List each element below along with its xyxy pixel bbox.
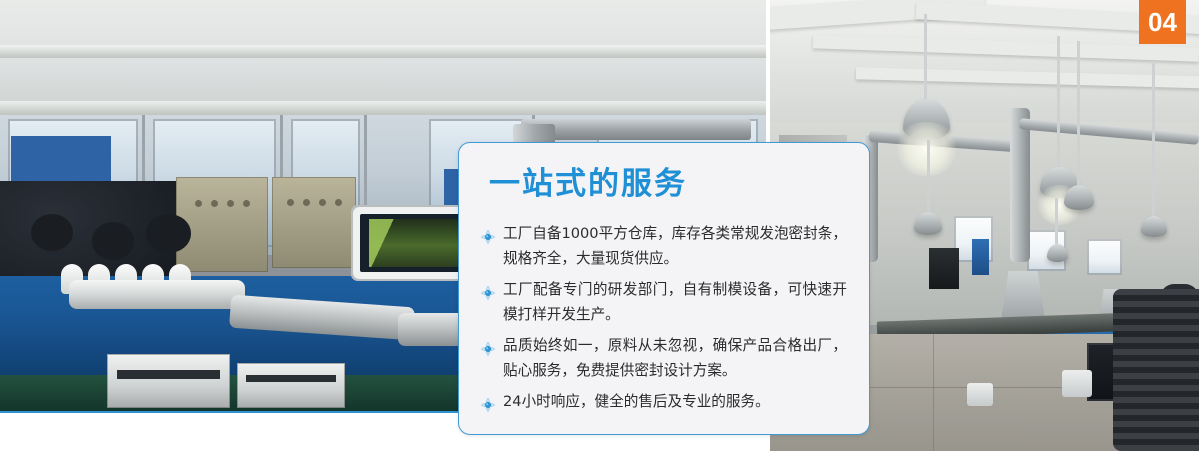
controller-panel bbox=[237, 363, 344, 408]
worker-head bbox=[31, 214, 73, 251]
bullet-target-icon bbox=[481, 340, 495, 354]
hmi-display bbox=[360, 214, 467, 272]
cabinet-indicator bbox=[195, 200, 202, 207]
card-title: 一站式的服务 bbox=[489, 169, 869, 200]
step-number-badge: 04 bbox=[1139, 0, 1186, 44]
cabinet-indicator bbox=[303, 199, 310, 206]
bullet-target-icon bbox=[481, 396, 495, 410]
cabinet-indicator bbox=[319, 199, 326, 206]
cabinet-indicator bbox=[211, 200, 218, 207]
blue-window-panel bbox=[11, 136, 111, 185]
list-item-text: 工厂配备专门的研发部门，自有制模设备，可快速开模打样开发生产。 bbox=[503, 281, 847, 323]
equipment-box bbox=[1062, 370, 1092, 397]
lamp-rod bbox=[927, 140, 930, 212]
window-pane bbox=[1087, 239, 1121, 275]
list-item-text: 工厂自备1000平方仓库，库存各类常规发泡密封条，规格齐全，大量现货供应。 bbox=[503, 225, 847, 267]
service-info-card: 一站式的服务 工厂自备1000平方仓库，库存各类常规发 bbox=[458, 142, 870, 435]
lamp-rod bbox=[924, 14, 927, 100]
lamp-rod bbox=[1055, 198, 1058, 243]
pendant-lamp bbox=[914, 212, 942, 235]
ceiling-beam-upper bbox=[0, 45, 766, 58]
list-item: 24小时响应，健全的售后及专业的服务。 bbox=[481, 390, 847, 415]
list-item: 工厂自备1000平方仓库，库存各类常规发泡密封条，规格齐全，大量现货供应。 bbox=[481, 222, 847, 271]
cabinet-indicator bbox=[227, 200, 234, 207]
lamp-rod bbox=[1077, 41, 1080, 185]
floor-seam bbox=[933, 334, 934, 451]
extruder-body bbox=[69, 280, 245, 309]
worker-head bbox=[92, 222, 134, 259]
service-bullet-list: 工厂自备1000平方仓库，库存各类常规发泡密封条，规格齐全，大量现货供应。 bbox=[481, 222, 847, 415]
bullet-target-icon bbox=[481, 284, 495, 298]
controller-display bbox=[117, 370, 220, 379]
blue-door bbox=[972, 239, 989, 275]
list-item: 品质始终如一，原料从未忽视，确保产品合格出厂，贴心服务，免费提供密封设计方案。 bbox=[481, 334, 847, 383]
equipment-box bbox=[967, 383, 993, 406]
ventilation-duct bbox=[521, 119, 751, 140]
promo-banner: 04 一站式的服务 工厂自 bbox=[0, 0, 1199, 451]
cabinet-indicator-row bbox=[176, 198, 268, 208]
controller-panel bbox=[107, 354, 230, 408]
cabinet-indicator-row bbox=[272, 197, 356, 207]
list-item-text: 品质始终如一，原料从未忽视，确保产品合格出厂，贴心服务，免费提供密封设计方案。 bbox=[503, 337, 847, 379]
cabinet-indicator bbox=[335, 199, 342, 206]
cable-coil-stack bbox=[1113, 289, 1199, 451]
dark-doorway bbox=[929, 248, 959, 289]
step-number-text: 04 bbox=[1148, 7, 1177, 38]
hmi-red-indicator bbox=[373, 256, 409, 264]
list-item: 工厂配备专门的研发部门，自有制模设备，可快速开模打样开发生产。 bbox=[481, 278, 847, 327]
controller-display bbox=[246, 375, 336, 382]
cabinet-indicator bbox=[243, 200, 250, 207]
lamp-rod bbox=[1152, 63, 1155, 216]
pendant-lamp bbox=[1141, 216, 1167, 236]
control-cabinet bbox=[176, 177, 268, 272]
lamp-rod bbox=[1057, 36, 1060, 167]
duct-riser bbox=[1010, 108, 1029, 261]
cabinet-indicator bbox=[287, 199, 294, 206]
list-item-text: 24小时响应，健全的售后及专业的服务。 bbox=[503, 393, 770, 410]
control-cabinet bbox=[272, 177, 356, 268]
bullet-target-icon bbox=[481, 228, 495, 242]
